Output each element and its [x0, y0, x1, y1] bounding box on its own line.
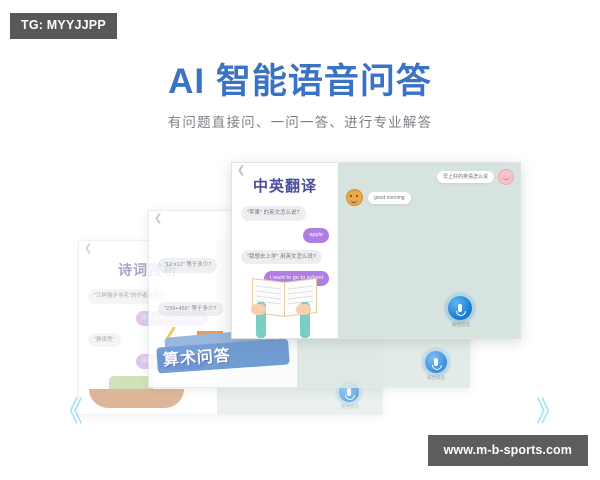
microphone-icon: [458, 304, 462, 312]
corner-mark-icon: ❮: [84, 244, 92, 254]
book-wrapper: [232, 274, 338, 338]
microphone-icon: [347, 388, 351, 396]
hand-right-shape: [296, 304, 311, 315]
tg-watermark-badge: TG: MYYJJPP: [10, 13, 117, 39]
chat-incoming-row: good morning: [346, 189, 411, 206]
microphone-button[interactable]: [448, 296, 472, 320]
card-title: 中英翻译: [232, 179, 338, 194]
assistant-avatar: [346, 189, 363, 206]
chat-outgoing-row: 早上好的英语怎么说: [437, 169, 514, 185]
corner-mark-icon: ❮: [154, 214, 162, 224]
corner-mark-icon: ❮: [237, 166, 245, 176]
chat-bubble-answer: apple: [303, 228, 329, 243]
chat-bubble-question: "苹果" 的英文怎么说?: [241, 206, 306, 221]
page-title: AI 智能语音问答: [0, 64, 600, 99]
chat-outgoing-bubble: 早上好的英语怎么说: [437, 171, 494, 183]
chat-bubble-question: "12 x12" 等于多少?: [158, 258, 217, 273]
microphone-caption: 按住说话: [426, 323, 496, 328]
microphone-button[interactable]: [425, 351, 447, 373]
chat-bubble-question: "静夜思": [88, 333, 121, 348]
site-url-badge: www.m-b-sports.com: [428, 435, 588, 467]
carousel-next-icon[interactable]: 》: [536, 398, 564, 426]
chat-bubble-question: "我想去上学" 用英文怎么说?: [241, 250, 322, 265]
chat-bubble-question: "239+456" 等于多少?: [158, 302, 223, 317]
card-chat-pane: 早上好的英语怎么说 good morning 按住说话: [338, 163, 520, 338]
boat-hull-shape: [89, 389, 184, 408]
microphone-icon: [434, 358, 438, 366]
page-subtitle: 有问题直接问、一问一答、进行专业解答: [0, 117, 600, 131]
user-avatar: [498, 169, 514, 185]
card-body: ❮ 中英翻译 "苹果" 的英文怎么说? apple "我想去上学" 用英文怎么说…: [232, 163, 520, 338]
carousel-prev-icon[interactable]: 《: [55, 398, 83, 426]
card-carousel: 《 》 ❮ 诗词赏析 "江畔独步寻花"的作者是谁? 这首诗的作者是唐代杜甫 "静…: [0, 150, 600, 430]
chat-incoming-bubble: good morning: [368, 192, 411, 204]
microphone-caption: 按住说话: [401, 376, 469, 381]
carousel-card-translation[interactable]: ❮ 中英翻译 "苹果" 的英文怎么说? apple "我想去上学" 用英文怎么说…: [231, 162, 521, 339]
card-left-pane: ❮ 中英翻译 "苹果" 的英文怎么说? apple "我想去上学" 用英文怎么说…: [232, 163, 338, 338]
open-book-illustration: [232, 274, 338, 338]
microphone-caption: 按住说话: [315, 405, 382, 410]
hand-left-shape: [251, 304, 266, 315]
